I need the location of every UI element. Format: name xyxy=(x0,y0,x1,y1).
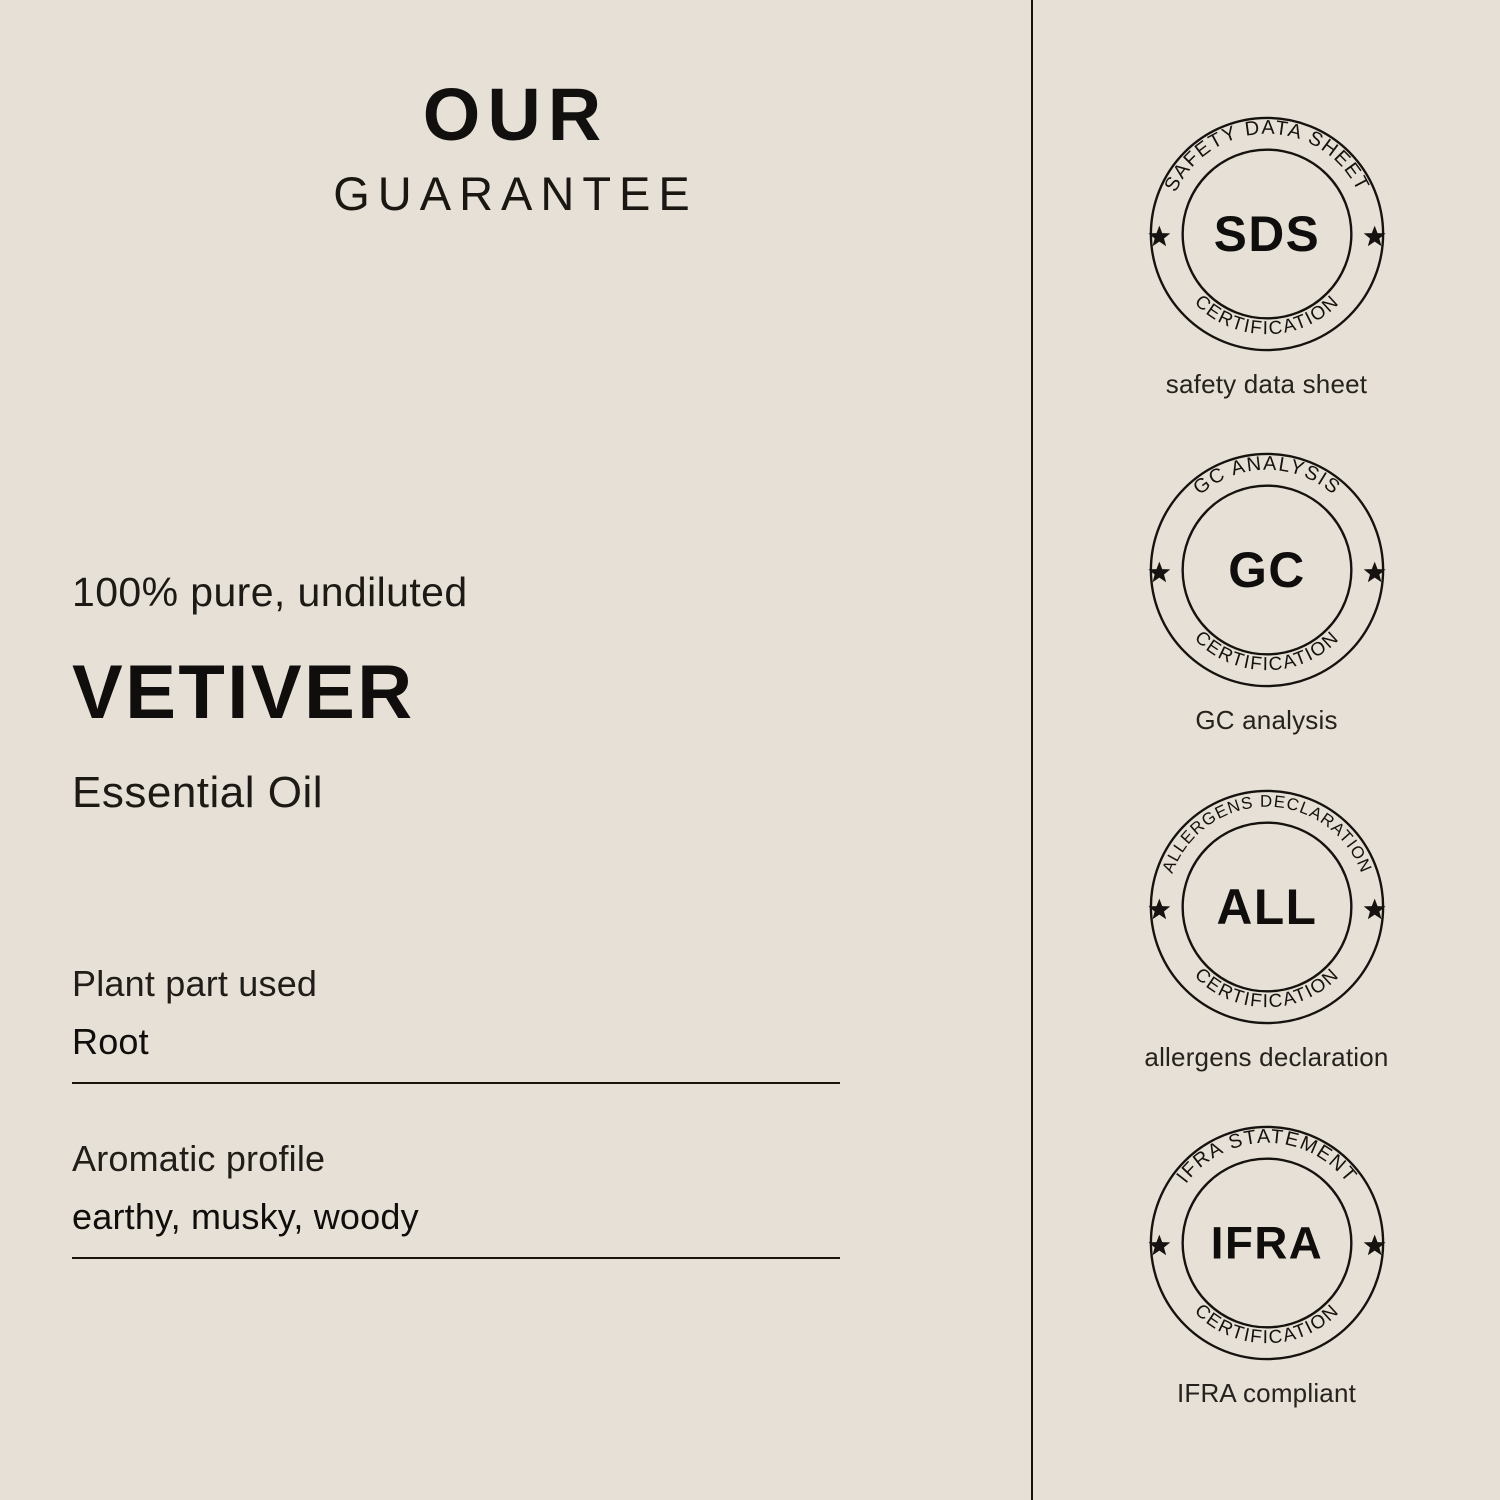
badge-arc-top: GC ANALYSIS xyxy=(1189,453,1345,500)
product-summary: 100% pure, undiluted VETIVER Essential O… xyxy=(72,572,972,815)
svg-text:CERTIFICATION: CERTIFICATION xyxy=(1191,626,1343,674)
certification-badge-sds: SAFETY DATA SHEET CERTIFICATION SDS safe… xyxy=(1033,105,1500,397)
badge-caption: allergens declaration xyxy=(1033,1044,1500,1070)
badge-arc-bottom: CERTIFICATION xyxy=(1191,963,1343,1011)
badge-arc-top: ALLERGENS DECLARATION xyxy=(1158,792,1375,876)
badge-abbr: ALL xyxy=(1216,879,1317,935)
page-title: OUR GUARANTEE xyxy=(0,78,1031,217)
badge-caption: IFRA compliant xyxy=(1033,1380,1500,1406)
seal-icon: GC ANALYSIS CERTIFICATION GC xyxy=(1033,441,1500,699)
spec-divider xyxy=(72,1257,840,1259)
spec-value: earthy, musky, woody xyxy=(72,1199,840,1235)
product-purity-text: 100% pure, undiluted xyxy=(72,572,972,613)
spec-label: Aromatic profile xyxy=(72,1141,840,1177)
badge-caption: GC analysis xyxy=(1033,707,1500,733)
product-name: VETIVER xyxy=(72,655,972,731)
badge-arc-bottom: CERTIFICATION xyxy=(1191,626,1343,674)
svg-text:IFRA STATEMENT: IFRA STATEMENT xyxy=(1172,1126,1361,1188)
seal-icon: IFRA STATEMENT CERTIFICATION IFRA xyxy=(1033,1114,1500,1372)
svg-text:CERTIFICATION: CERTIFICATION xyxy=(1191,963,1343,1011)
left-content-column: OUR GUARANTEE 100% pure, undiluted VETIV… xyxy=(0,0,1031,1500)
badge-arc-top: IFRA STATEMENT xyxy=(1172,1126,1361,1188)
spec-label: Plant part used xyxy=(72,966,840,1002)
page-title-line-1: OUR xyxy=(0,78,1031,152)
product-type: Essential Oil xyxy=(72,771,972,815)
svg-text:SAFETY DATA SHEET: SAFETY DATA SHEET xyxy=(1160,117,1373,196)
badge-caption: safety data sheet xyxy=(1033,371,1500,397)
badge-arc-bottom: CERTIFICATION xyxy=(1191,1299,1343,1347)
svg-text:GC ANALYSIS: GC ANALYSIS xyxy=(1189,453,1345,500)
svg-text:ALLERGENS DECLARATION: ALLERGENS DECLARATION xyxy=(1158,792,1375,876)
badge-abbr: SDS xyxy=(1213,206,1319,262)
certification-badges-column: SAFETY DATA SHEET CERTIFICATION SDS safe… xyxy=(1033,0,1500,1500)
page-title-line-2: GUARANTEE xyxy=(0,170,1031,217)
guarantee-panel: OUR GUARANTEE 100% pure, undiluted VETIV… xyxy=(0,0,1500,1500)
certification-badge-gc: GC ANALYSIS CERTIFICATION GC GC analysis xyxy=(1033,441,1500,733)
seal-icon: ALLERGENS DECLARATION CERTIFICATION ALL xyxy=(1033,778,1500,1036)
certification-badge-ifra: IFRA STATEMENT CERTIFICATION IFRA IFRA c… xyxy=(1033,1114,1500,1406)
spec-spacer xyxy=(72,1084,840,1141)
certification-badge-allergens: ALLERGENS DECLARATION CERTIFICATION ALL … xyxy=(1033,778,1500,1070)
product-specs: Plant part used Root Aromatic profile ea… xyxy=(72,966,840,1259)
svg-text:CERTIFICATION: CERTIFICATION xyxy=(1191,290,1343,338)
badge-abbr: IFRA xyxy=(1210,1218,1322,1269)
badge-arc-top: SAFETY DATA SHEET xyxy=(1160,117,1373,196)
spec-value: Root xyxy=(72,1024,840,1060)
spec-row-plant-part: Plant part used Root xyxy=(72,966,840,1084)
spec-row-aromatic-profile: Aromatic profile earthy, musky, woody xyxy=(72,1141,840,1259)
seal-icon: SAFETY DATA SHEET CERTIFICATION SDS xyxy=(1033,105,1500,363)
svg-text:CERTIFICATION: CERTIFICATION xyxy=(1191,1299,1343,1347)
badge-abbr: GC xyxy=(1228,542,1305,598)
badge-arc-bottom: CERTIFICATION xyxy=(1191,290,1343,338)
